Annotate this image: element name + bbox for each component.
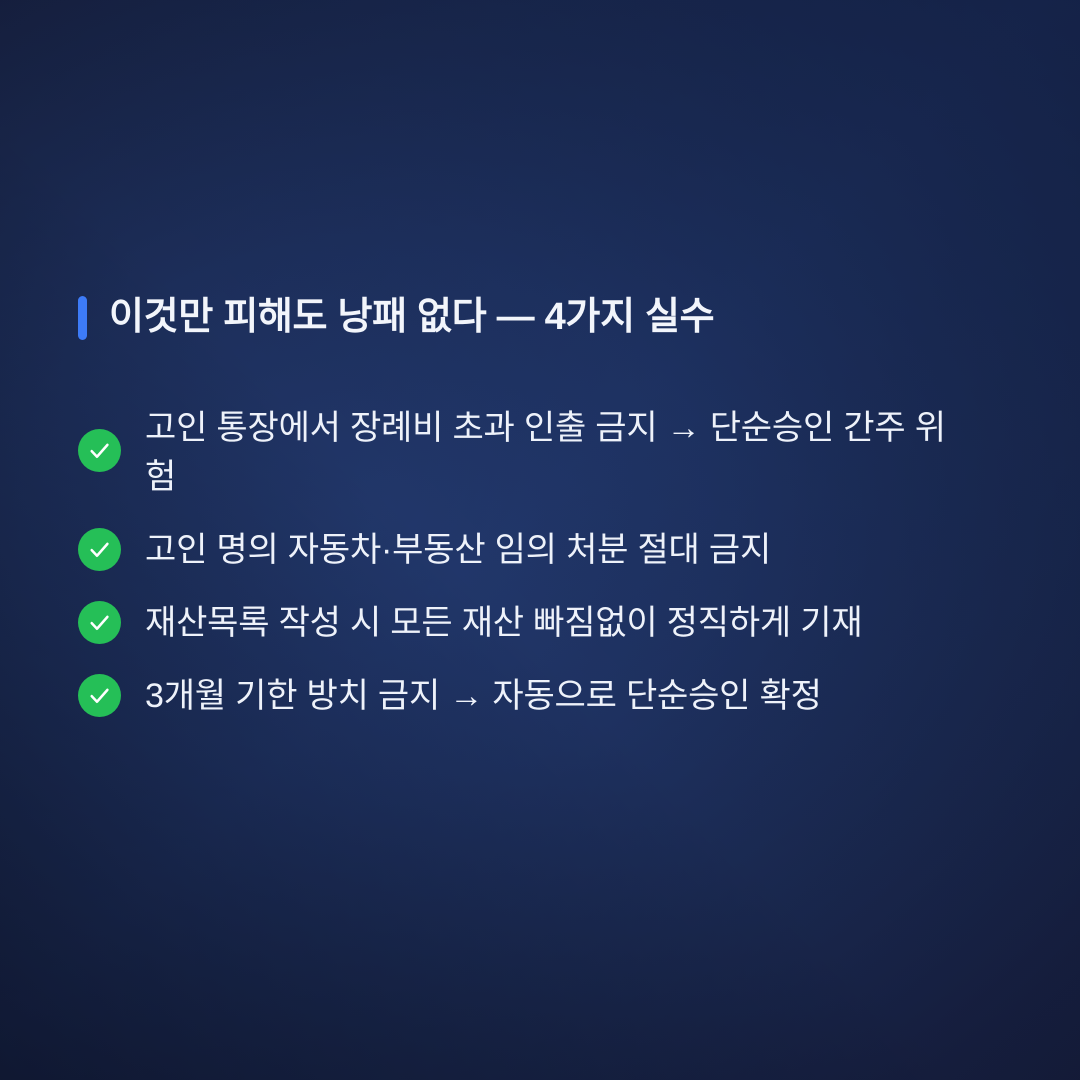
list-item: 3개월 기한 방치 금지 → 자동으로 단순승인 확정 xyxy=(78,672,1008,721)
blue-accent-bar xyxy=(78,296,87,340)
page-title: 이것만 피해도 낭패 없다 — 4가지 실수 xyxy=(78,296,714,340)
list-item-label: 재산목록 작성 시 모든 재산 빠짐없이 정직하게 기재 xyxy=(145,599,862,648)
checklist: 고인 통장에서 장례비 초과 인출 금지 → 단순승인 간주 위험 고인 명의 … xyxy=(78,404,1008,721)
check-icon xyxy=(78,429,121,472)
list-item: 고인 명의 자동차·부동산 임의 처분 절대 금지 xyxy=(78,526,1008,575)
check-icon xyxy=(78,601,121,644)
info-card: 이것만 피해도 낭패 없다 — 4가지 실수 고인 통장에서 장례비 초과 인출… xyxy=(0,0,1080,1080)
list-item-label: 고인 명의 자동차·부동산 임의 처분 절대 금지 xyxy=(145,526,771,575)
page-title-text: 이것만 피해도 낭패 없다 — 4가지 실수 xyxy=(109,297,714,339)
list-item: 재산목록 작성 시 모든 재산 빠짐없이 정직하게 기재 xyxy=(78,599,1008,648)
card-content: 이것만 피해도 낭패 없다 — 4가지 실수 고인 통장에서 장례비 초과 인출… xyxy=(0,0,1080,1080)
check-icon xyxy=(78,674,121,717)
list-item-label: 고인 통장에서 장례비 초과 인출 금지 → 단순승인 간주 위험 xyxy=(145,404,975,502)
list-item: 고인 통장에서 장례비 초과 인출 금지 → 단순승인 간주 위험 xyxy=(78,404,1008,502)
list-item-label: 3개월 기한 방치 금지 → 자동으로 단순승인 확정 xyxy=(145,672,822,721)
check-icon xyxy=(78,528,121,571)
